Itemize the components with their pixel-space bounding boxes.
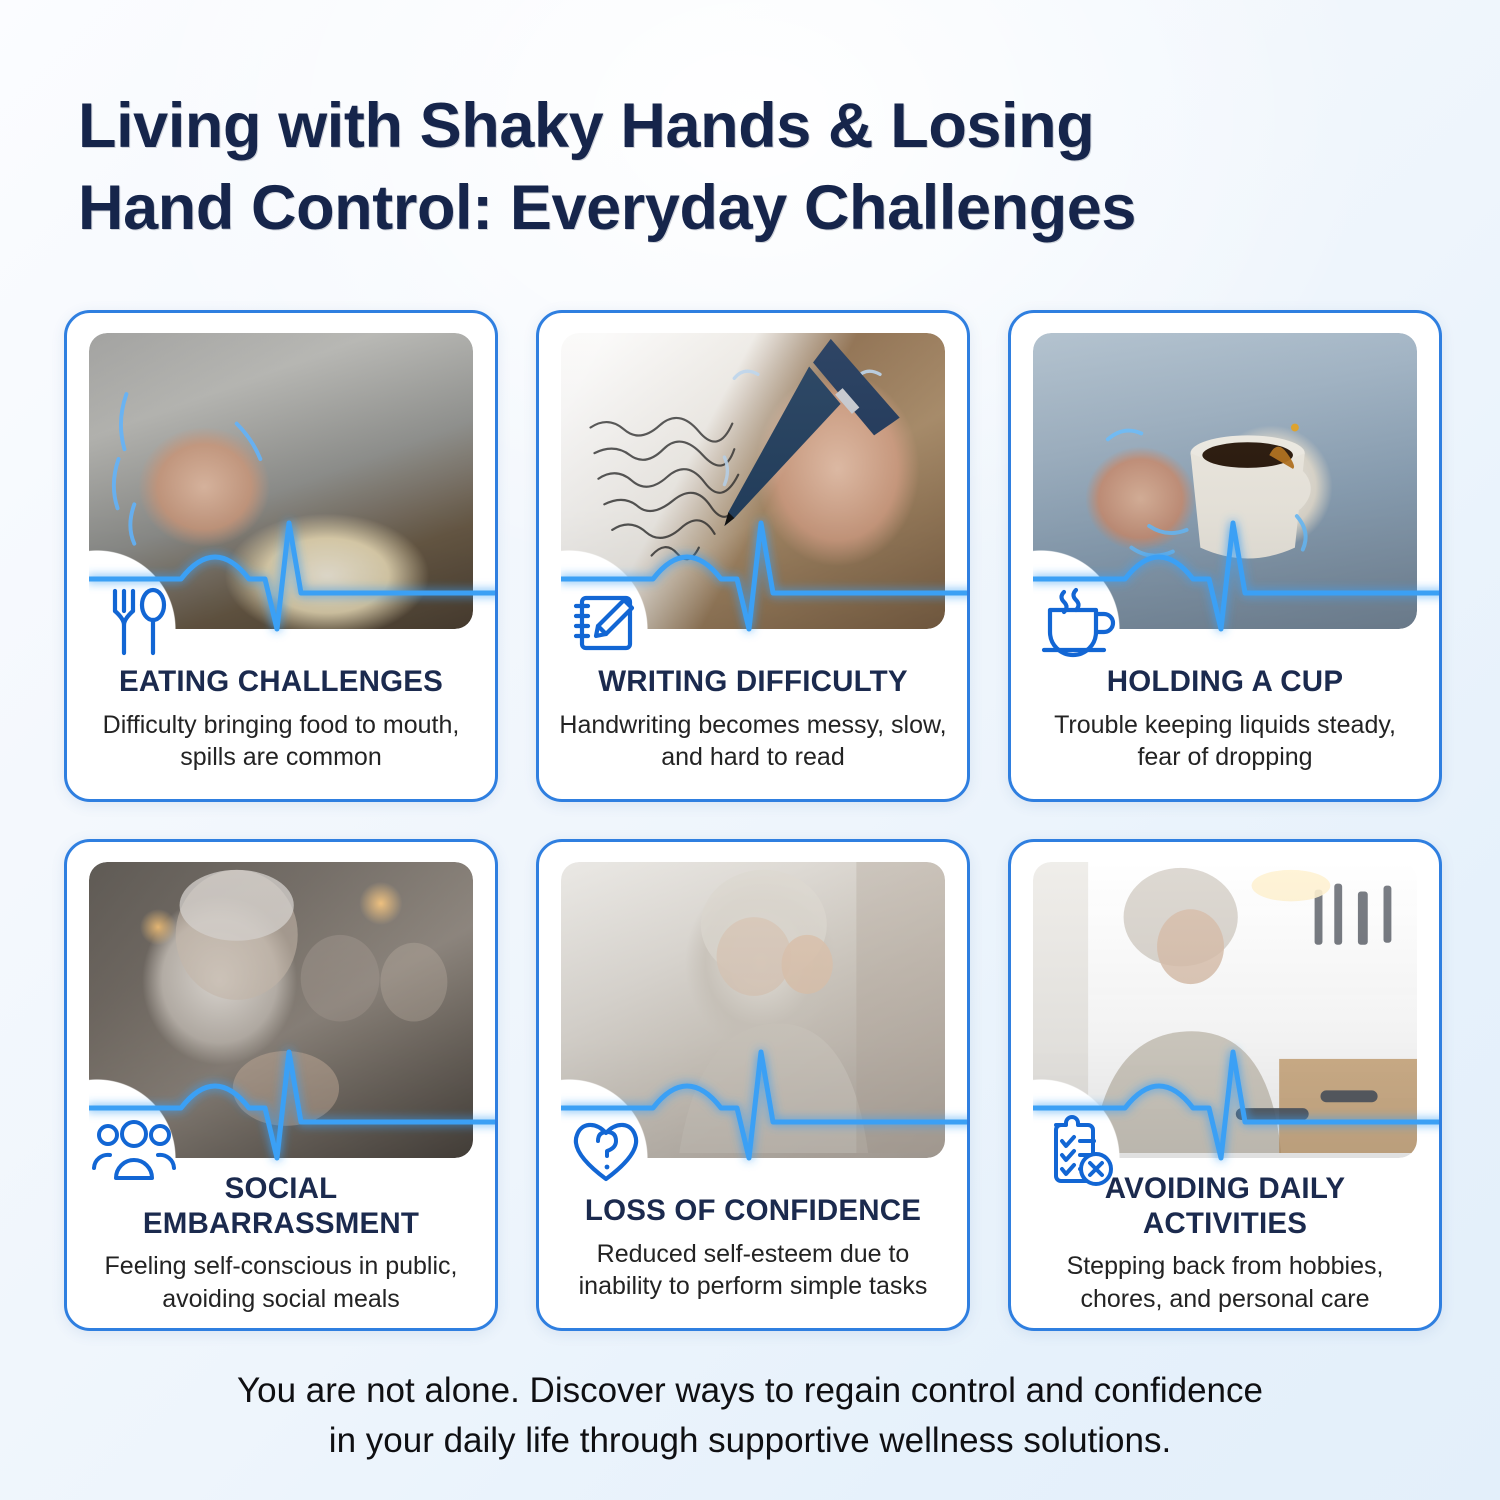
card-text: AVOIDING DAILY ACTIVITIES Stepping back … — [1031, 1172, 1419, 1315]
card-text: LOSS OF CONFIDENCE Reduced self-esteem d… — [559, 1194, 947, 1303]
fork-and-spoon-icon — [91, 579, 177, 665]
challenge-card[interactable]: SOCIAL EMBARRASSMENT Feeling self-consci… — [64, 839, 498, 1331]
page-title-line-2: Hand Control: Everyday Challenges — [78, 173, 1136, 243]
challenge-card[interactable]: AVOIDING DAILY ACTIVITIES Stepping back … — [1008, 839, 1442, 1331]
footer-line-1: You are not alone. Discover ways to rega… — [237, 1371, 1263, 1410]
card-description: Feeling self-conscious in public, avoidi… — [87, 1250, 475, 1315]
heart-with-question-mark-icon — [563, 1108, 649, 1194]
challenge-card[interactable]: LOSS OF CONFIDENCE Reduced self-esteem d… — [536, 839, 970, 1331]
page-title-line-1: Living with Shaky Hands & Losing — [78, 91, 1094, 161]
card-title: LOSS OF CONFIDENCE — [559, 1194, 947, 1229]
card-description: Trouble keeping liquids steady, fear of … — [1031, 709, 1419, 774]
card-text: EATING CHALLENGES Difficulty bringing fo… — [87, 665, 475, 774]
header: Living with Shaky Hands & Losing Hand Co… — [0, 0, 1500, 250]
card-title: SOCIAL EMBARRASSMENT — [87, 1172, 475, 1241]
card-title: HOLDING A CUP — [1031, 665, 1419, 700]
card-title: AVOIDING DAILY ACTIVITIES — [1031, 1172, 1419, 1241]
card-description: Reduced self-esteem due to inability to … — [559, 1238, 947, 1303]
card-text: HOLDING A CUP Trouble keeping liquids st… — [1031, 665, 1419, 774]
infographic-page: Living with Shaky Hands & Losing Hand Co… — [0, 0, 1500, 1500]
card-title: WRITING DIFFICULTY — [559, 665, 947, 700]
notepad-with-pencil-icon — [563, 579, 649, 665]
challenge-card-grid: EATING CHALLENGES Difficulty bringing fo… — [64, 310, 1440, 1331]
card-description: Difficulty bringing food to mouth, spill… — [87, 709, 475, 774]
card-title: EATING CHALLENGES — [87, 665, 475, 700]
footer-line-2: in your daily life through supportive we… — [329, 1421, 1171, 1460]
challenge-card[interactable]: HOLDING A CUP Trouble keeping liquids st… — [1008, 310, 1442, 802]
card-text: SOCIAL EMBARRASSMENT Feeling self-consci… — [87, 1172, 475, 1315]
card-description: Stepping back from hobbies, chores, and … — [1031, 1250, 1419, 1315]
coffee-cup-icon — [1035, 579, 1121, 665]
challenge-card[interactable]: WRITING DIFFICULTY Handwriting becomes m… — [536, 310, 970, 802]
challenge-card[interactable]: EATING CHALLENGES Difficulty bringing fo… — [64, 310, 498, 802]
card-text: WRITING DIFFICULTY Handwriting becomes m… — [559, 665, 947, 774]
page-title: Living with Shaky Hands & Losing Hand Co… — [78, 86, 1422, 250]
footer-message: You are not alone. Discover ways to rega… — [90, 1366, 1410, 1465]
card-description: Handwriting becomes messy, slow, and har… — [559, 709, 947, 774]
